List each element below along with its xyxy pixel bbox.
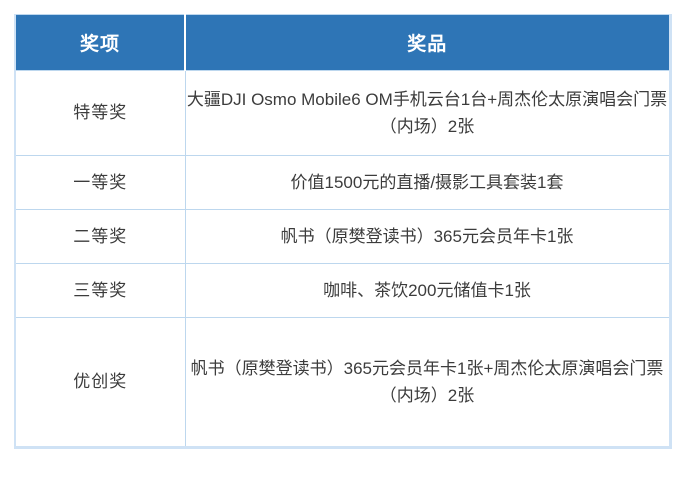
column-header-prize: 奖品 bbox=[185, 15, 670, 71]
column-header-award: 奖项 bbox=[15, 15, 185, 71]
cell-award: 特等奖 bbox=[15, 71, 185, 156]
table-row: 特等奖 大疆DJI Osmo Mobile6 OM手机云台1台+周杰伦太原演唱会… bbox=[15, 71, 670, 156]
table-row: 优创奖 帆书（原樊登读书）365元会员年卡1张+周杰伦太原演唱会门票（内场）2张 bbox=[15, 318, 670, 448]
cell-award: 优创奖 bbox=[15, 318, 185, 448]
table-row: 三等奖 咖啡、茶饮200元储值卡1张 bbox=[15, 264, 670, 318]
cell-prize: 大疆DJI Osmo Mobile6 OM手机云台1台+周杰伦太原演唱会门票（内… bbox=[185, 71, 670, 156]
cell-award: 三等奖 bbox=[15, 264, 185, 318]
cell-prize: 咖啡、茶饮200元储值卡1张 bbox=[185, 264, 670, 318]
cell-prize: 价值1500元的直播/摄影工具套装1套 bbox=[185, 156, 670, 210]
table-body: 特等奖 大疆DJI Osmo Mobile6 OM手机云台1台+周杰伦太原演唱会… bbox=[15, 71, 670, 448]
prize-table: 奖项 奖品 特等奖 大疆DJI Osmo Mobile6 OM手机云台1台+周杰… bbox=[14, 14, 672, 449]
cell-prize: 帆书（原樊登读书）365元会员年卡1张 bbox=[185, 210, 670, 264]
table-row: 一等奖 价值1500元的直播/摄影工具套装1套 bbox=[15, 156, 670, 210]
page-canvas: 奖项 奖品 特等奖 大疆DJI Osmo Mobile6 OM手机云台1台+周杰… bbox=[0, 0, 678, 481]
cell-prize: 帆书（原樊登读书）365元会员年卡1张+周杰伦太原演唱会门票（内场）2张 bbox=[185, 318, 670, 448]
cell-award: 一等奖 bbox=[15, 156, 185, 210]
table-header: 奖项 奖品 bbox=[15, 15, 670, 71]
header-row: 奖项 奖品 bbox=[15, 15, 670, 71]
table-row: 二等奖 帆书（原樊登读书）365元会员年卡1张 bbox=[15, 210, 670, 264]
cell-award: 二等奖 bbox=[15, 210, 185, 264]
